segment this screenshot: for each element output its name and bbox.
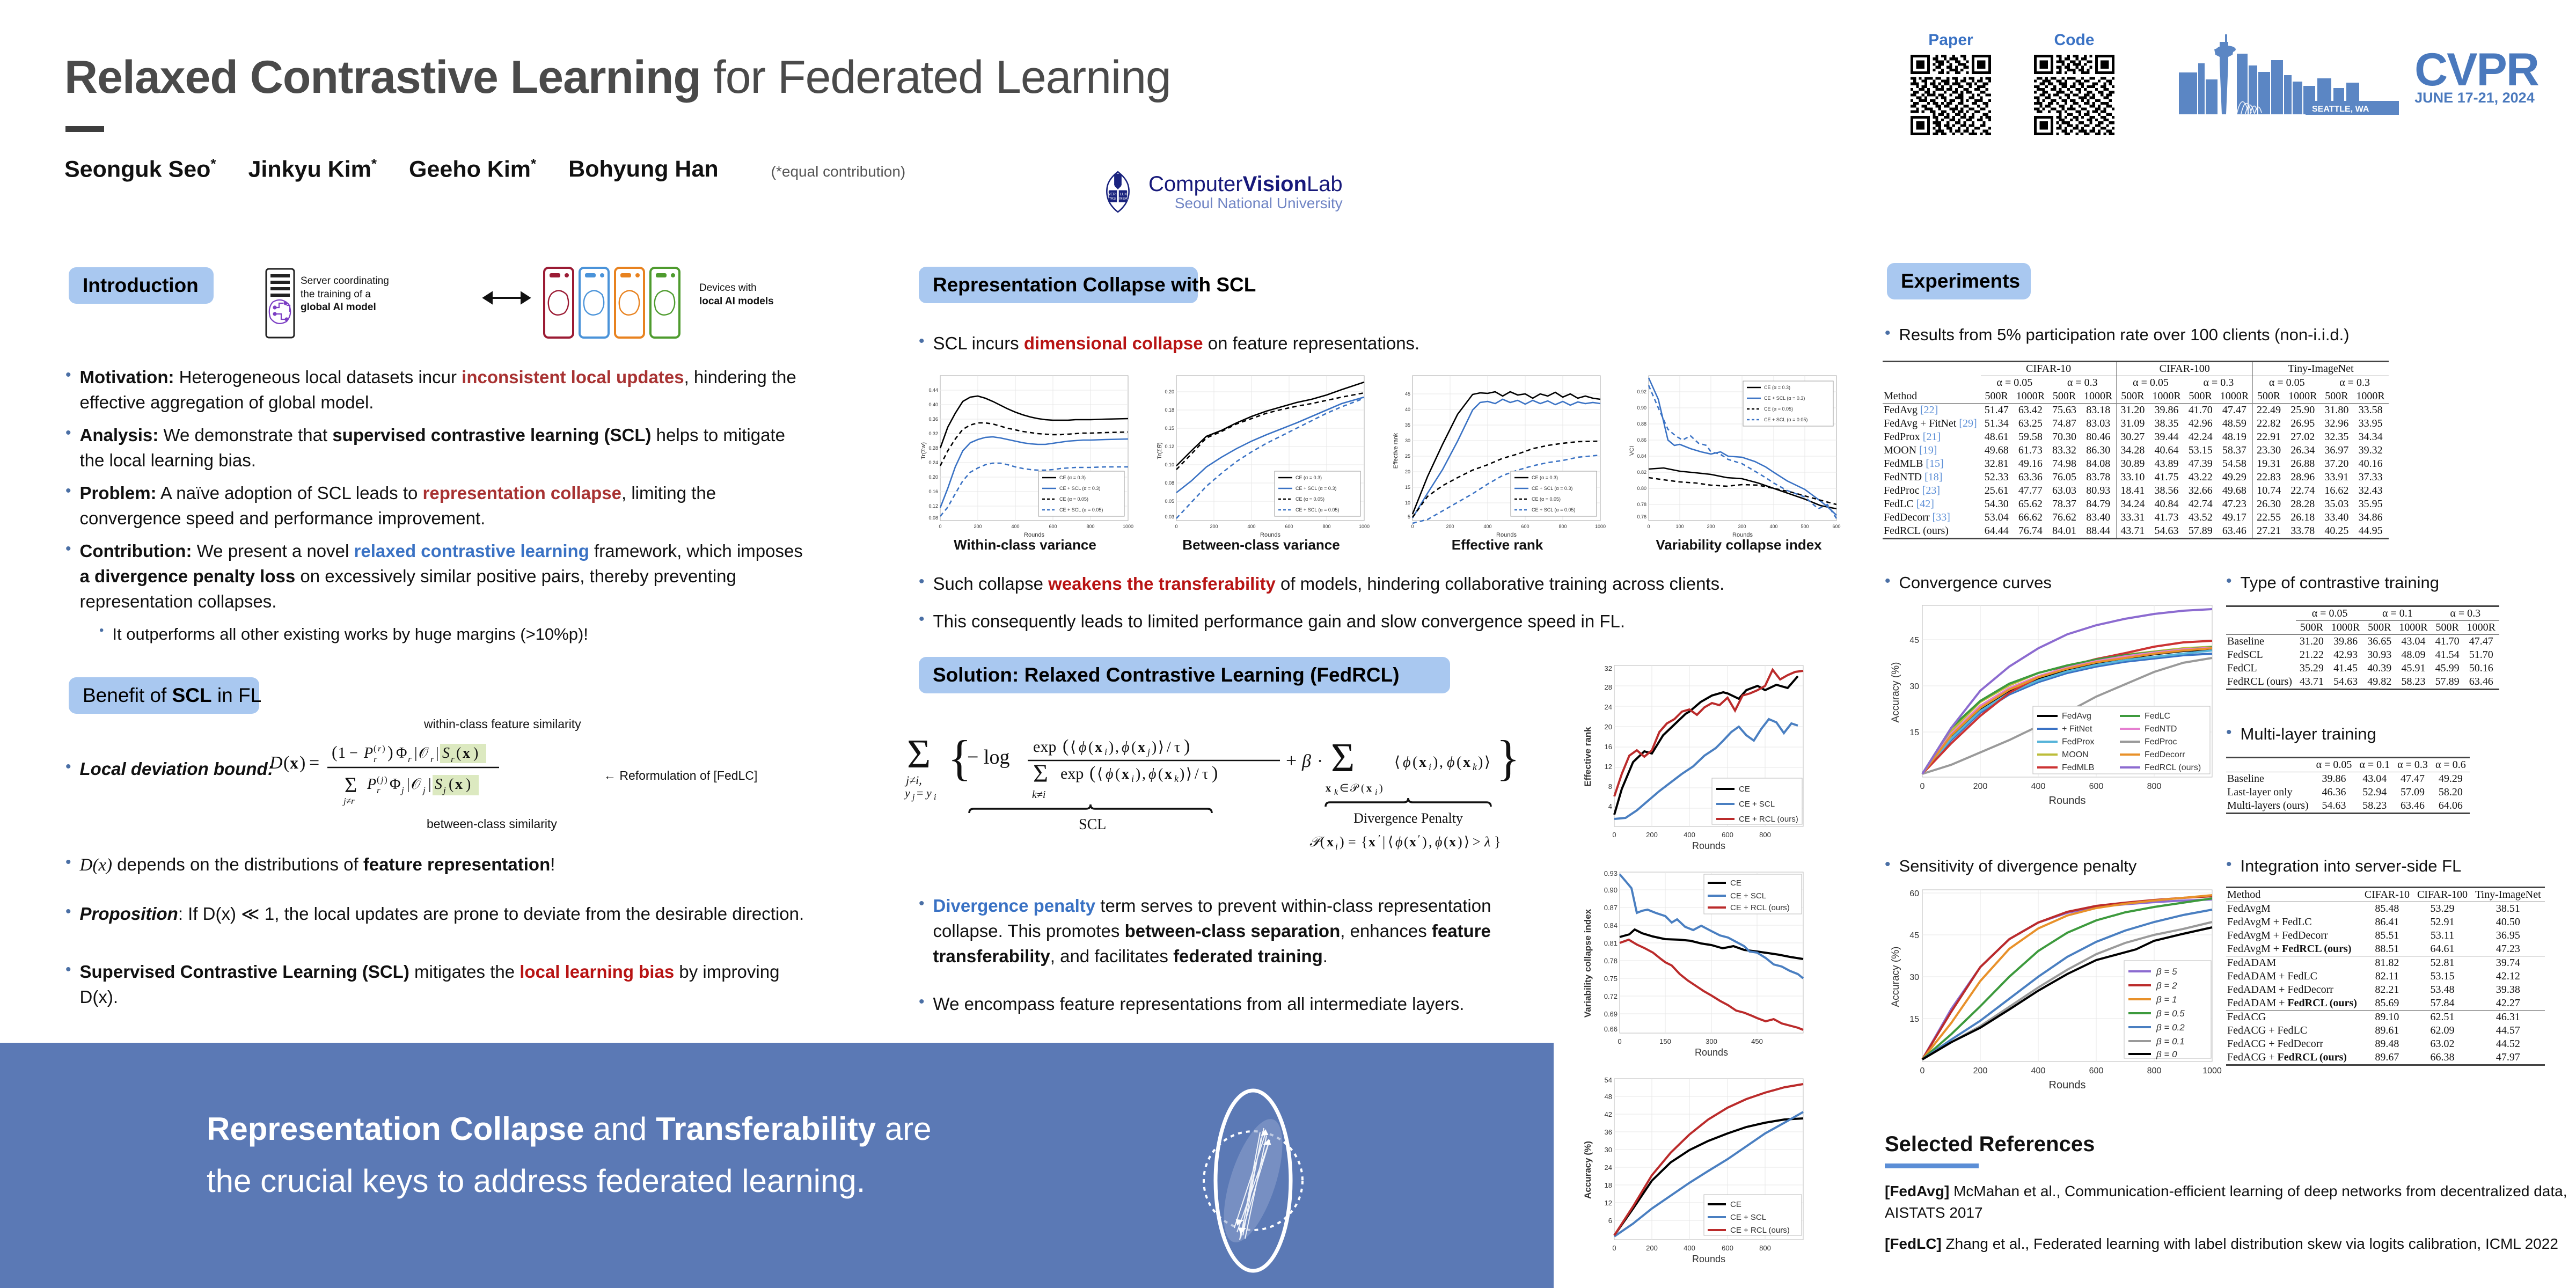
qr-code[interactable]: Code bbox=[2034, 31, 2114, 135]
sensitivity-label-bullet: • Sensitivity of divergence penalty bbox=[1885, 854, 2136, 878]
bullet-dot: • bbox=[919, 894, 925, 914]
svg-text:MOON: MOON bbox=[2062, 750, 2089, 759]
svg-text:S: S bbox=[435, 776, 442, 793]
svg-text:Rounds: Rounds bbox=[2049, 1079, 2086, 1091]
table-cell: 42.74 bbox=[2185, 497, 2216, 511]
svg-text:25: 25 bbox=[1405, 453, 1410, 459]
th-round: 1000R bbox=[2216, 390, 2253, 404]
table-cell: 62.51 bbox=[2413, 1011, 2471, 1024]
table-cell: 81.82 bbox=[2361, 956, 2413, 970]
svg-text:0.72: 0.72 bbox=[1604, 992, 1618, 1000]
svg-text:0.40: 0.40 bbox=[928, 402, 938, 407]
qr-code-label: Code bbox=[2054, 31, 2095, 49]
section-header-solution: Solution: Relaxed Contrastive Learning (… bbox=[919, 657, 1450, 693]
svg-text:k: k bbox=[1334, 788, 1338, 797]
svg-text:|: | bbox=[428, 776, 431, 793]
table-cell: 43.71 bbox=[2117, 524, 2149, 539]
svg-text:CE (α = 0.05): CE (α = 0.05) bbox=[1059, 496, 1088, 502]
experiments-bullet: • Results from 5% participation rate ove… bbox=[1885, 323, 2572, 347]
serverside-table: Method CIFAR-10 CIFAR-100 Tiny-ImageNet … bbox=[2226, 887, 2545, 1066]
th-round: 1000R bbox=[2148, 390, 2184, 404]
table-cell: 49.68 bbox=[1981, 444, 2012, 457]
bullet-dot: • bbox=[919, 331, 925, 352]
svg-text:400: 400 bbox=[1483, 524, 1491, 529]
svg-text:400: 400 bbox=[2031, 1066, 2046, 1075]
svg-text:0.80: 0.80 bbox=[1637, 486, 1646, 491]
th-alpha: α = 0.05 bbox=[2296, 606, 2363, 621]
svg-text:200: 200 bbox=[1646, 1244, 1658, 1252]
table-cell: 25.61 bbox=[1981, 484, 2012, 497]
svg-text:8: 8 bbox=[1608, 782, 1612, 791]
table-cell: 32.43 bbox=[2352, 484, 2388, 497]
th-dataset: CIFAR-100 bbox=[2413, 888, 2471, 902]
intro-bullet-2: • Problem: A naïve adoption of SCL leads… bbox=[65, 481, 806, 531]
cvpr-city-text: SEATTLE, WA bbox=[2312, 105, 2369, 114]
svg-text:0: 0 bbox=[1647, 524, 1650, 529]
svg-text:42: 42 bbox=[1605, 1110, 1612, 1118]
table-cell: 40.25 bbox=[2321, 524, 2352, 539]
svg-text:r: r bbox=[378, 744, 382, 753]
table-row: FedAvg + FitNet [29]51.3463.2574.8783.03… bbox=[1883, 417, 2389, 430]
bullet-dot: • bbox=[65, 481, 71, 501]
svg-text:′: ′ bbox=[1418, 833, 1420, 845]
table-cell: 58.23 bbox=[2395, 675, 2431, 690]
svg-text:Φ: Φ bbox=[396, 745, 407, 762]
table-cell: 43.89 bbox=[2148, 457, 2184, 471]
table-cell: 43.52 bbox=[2185, 511, 2216, 524]
svg-text:ϕ: ϕ bbox=[1447, 754, 1455, 771]
svg-text:r: r bbox=[377, 785, 380, 795]
svg-text:600: 600 bbox=[1722, 1244, 1733, 1252]
svg-text:35: 35 bbox=[1405, 422, 1410, 428]
bullet-dot: • bbox=[65, 539, 71, 559]
table-cell: 52.91 bbox=[2413, 916, 2471, 929]
table-cell-method: FedADAM + FedLC bbox=[2226, 970, 2361, 983]
table-cell: 63.46 bbox=[2394, 799, 2432, 814]
svg-text:CE + SCL (α = 0.05): CE + SCL (α = 0.05) bbox=[1532, 507, 1575, 513]
svg-text:/: / bbox=[1167, 739, 1171, 756]
server-caption: Server coordinating the training of a gl… bbox=[301, 275, 456, 314]
table-cell: 82.11 bbox=[2361, 970, 2413, 983]
svg-text:𝒫: 𝒫 bbox=[1350, 782, 1359, 794]
svg-text:+ FitNet: + FitNet bbox=[2062, 724, 2092, 734]
th-round: 500R bbox=[2432, 621, 2463, 635]
svg-text:Accuracy (%): Accuracy (%) bbox=[1890, 662, 1901, 723]
svg-text:800: 800 bbox=[1558, 524, 1567, 529]
svg-text:0.78: 0.78 bbox=[1637, 502, 1646, 507]
svg-text:|: | bbox=[407, 776, 410, 793]
th-round: 500R bbox=[1981, 390, 2012, 404]
reference-tag: [FedLC] bbox=[1885, 1235, 1942, 1252]
table-cell: 63.46 bbox=[2216, 524, 2253, 539]
svg-text:ϕ: ϕ bbox=[1435, 834, 1442, 850]
table-cell: 48.61 bbox=[1981, 430, 2012, 444]
table-cell: 65.62 bbox=[2012, 497, 2048, 511]
author-star: * bbox=[210, 156, 216, 172]
table-cell: 63.25 bbox=[2012, 417, 2048, 430]
banner-emph-1: Transferability bbox=[656, 1111, 876, 1147]
table-cell: 23.30 bbox=[2253, 444, 2285, 457]
table-cell: 80.46 bbox=[2080, 430, 2117, 444]
table-row: FedAvgM + FedDecorr85.5153.1136.95 bbox=[2226, 929, 2545, 942]
table-row: FedCL35.2941.4540.3945.9145.9950.16 bbox=[2226, 662, 2499, 675]
table-cell-method: FedAvgM + FedRCL (ours) bbox=[2226, 942, 2361, 956]
bullet-dot: • bbox=[2226, 571, 2232, 591]
table-cell: 83.40 bbox=[2080, 511, 2117, 524]
table-cell: 41.54 bbox=[2432, 648, 2463, 662]
svg-text:⟩: ⟩ bbox=[1158, 739, 1164, 756]
table-cell: 63.36 bbox=[2012, 471, 2048, 484]
table-row: FedADAM + FedRCL (ours)85.6957.8442.27 bbox=[2226, 997, 2545, 1011]
svg-text:600: 600 bbox=[2089, 782, 2104, 791]
section-header-collapse: Representation Collapse with SCL bbox=[919, 267, 1198, 303]
table-cell: 82.21 bbox=[2361, 983, 2413, 997]
table-cell: 26.34 bbox=[2285, 444, 2321, 457]
svg-text:i: i bbox=[1104, 747, 1107, 757]
devices-caption: Devices with local AI models bbox=[699, 282, 823, 308]
svg-text:): ) bbox=[1458, 834, 1462, 850]
svg-text:(: ( bbox=[374, 743, 377, 753]
table-cell-method: FedAvgM + FedDecorr bbox=[2226, 929, 2361, 942]
table-cell: 42.12 bbox=[2471, 970, 2545, 983]
svg-text:(: ( bbox=[1361, 782, 1365, 794]
convergence-chart: Accuracy (%) 453015 0200400600800 Rounds bbox=[1889, 601, 2222, 816]
bullet-dot: • bbox=[65, 960, 71, 980]
svg-text:(: ( bbox=[1158, 766, 1163, 782]
qr-code-icon[interactable] bbox=[2034, 55, 2114, 135]
table-cell-method: FedAvg + FitNet [29] bbox=[1883, 417, 1981, 430]
svg-text:MEA: MEA bbox=[1119, 197, 1128, 201]
cvlab-name: ComputerVisionLab bbox=[1148, 173, 1343, 195]
svg-text:FedMLB: FedMLB bbox=[2062, 763, 2094, 772]
table-cell: 53.15 bbox=[2185, 444, 2216, 457]
th-dataset-1: CIFAR-100 bbox=[2117, 362, 2253, 376]
table-cell-method: FedACG bbox=[2226, 1011, 2361, 1024]
table-cell: 30.89 bbox=[2117, 457, 2149, 471]
references-rule bbox=[1885, 1163, 1979, 1168]
qr-paper[interactable]: Paper bbox=[1911, 31, 1991, 135]
svg-text:CE (α = 0.3): CE (α = 0.3) bbox=[1059, 475, 1086, 480]
table-cell-method: FedAvgM bbox=[2226, 902, 2361, 916]
table-row: Multi-layers (ours)54.6358.2363.4664.06 bbox=[2226, 799, 2470, 814]
svg-text:Rounds: Rounds bbox=[2049, 795, 2086, 807]
svg-text:0.66: 0.66 bbox=[1604, 1025, 1618, 1033]
author-star: * bbox=[531, 156, 536, 172]
table-cell-method: FedAvgM + FedLC bbox=[2226, 916, 2361, 929]
table-cell: FedCL bbox=[2226, 662, 2296, 675]
svg-text:VCI: VCI bbox=[1629, 446, 1635, 456]
svg-text:(: ( bbox=[1413, 754, 1417, 771]
collapse-bullet-2: • This consequently leads to limited per… bbox=[919, 609, 1820, 634]
svg-text:CE (α = 0.05): CE (α = 0.05) bbox=[1764, 406, 1793, 412]
svg-text:FedAvg: FedAvg bbox=[2062, 712, 2091, 721]
svg-text:i: i bbox=[1375, 788, 1377, 797]
table-cell: 33.10 bbox=[2117, 471, 2149, 484]
svg-text:0: 0 bbox=[1175, 524, 1177, 529]
svg-text:CE + SCL (α = 0.05): CE + SCL (α = 0.05) bbox=[1296, 507, 1339, 513]
th-alpha: α = 0.3 bbox=[2321, 376, 2388, 390]
bullet-dot: • bbox=[65, 423, 71, 443]
poster-root: Relaxed Contrastive Learning for Federat… bbox=[0, 0, 2576, 1288]
table-row: FedProx [21]48.6159.5870.3080.4630.2739.… bbox=[1883, 430, 2389, 444]
th-alpha: α = 0.05 bbox=[2253, 376, 2321, 390]
svg-text:800: 800 bbox=[1759, 831, 1771, 839]
svg-text:): ) bbox=[387, 742, 393, 762]
svg-text:x: x bbox=[1366, 782, 1372, 794]
table-cell: 58.23 bbox=[2355, 799, 2394, 814]
table-cell: 39.44 bbox=[2148, 430, 2184, 444]
svg-text:CE + RCL (ours): CE + RCL (ours) bbox=[1730, 903, 1790, 912]
svg-text:CE (α = 0.05): CE (α = 0.05) bbox=[1532, 496, 1561, 502]
svg-text:1000: 1000 bbox=[1123, 524, 1133, 529]
table-cell: Multi-layers (ours) bbox=[2226, 799, 2312, 814]
svg-text:30: 30 bbox=[1909, 973, 1919, 982]
multilayer-label-bullet: • Multi-layer training bbox=[2226, 722, 2376, 746]
qr-paper-icon[interactable] bbox=[1911, 55, 1991, 135]
table-cell: 47.47 bbox=[2216, 404, 2253, 418]
th-alpha: α = 0.05 bbox=[2312, 758, 2356, 772]
svg-text:450: 450 bbox=[1751, 1037, 1763, 1045]
table-row: FedLC [42]54.3065.6278.3784.7934.2440.84… bbox=[1883, 497, 2389, 511]
table-cell: 75.63 bbox=[2048, 404, 2080, 418]
contrastive-table: α = 0.05 α = 0.1 α = 0.3 500R1000R 500R1… bbox=[2226, 605, 2499, 690]
svg-text:Rounds: Rounds bbox=[1692, 1254, 1725, 1264]
table-row: FedNTD [18]52.3363.3676.0583.7833.1041.7… bbox=[1883, 471, 2389, 484]
table-cell: 57.89 bbox=[2432, 675, 2463, 690]
th-dataset: CIFAR-10 bbox=[2361, 888, 2413, 902]
table-cell-method: FedACG + FedDecorr bbox=[2226, 1037, 2361, 1051]
table-cell: 40.39 bbox=[2363, 662, 2395, 675]
svg-text:j: j bbox=[442, 785, 446, 795]
svg-text:·: · bbox=[1317, 751, 1323, 771]
table-cell: 54.63 bbox=[2312, 799, 2356, 814]
th-round: 500R bbox=[2363, 621, 2395, 635]
table-cell: 41.45 bbox=[2328, 662, 2363, 675]
table-cell: 38.56 bbox=[2148, 484, 2184, 497]
svg-text:=: = bbox=[309, 753, 319, 773]
table-cell: 89.10 bbox=[2361, 1011, 2413, 1024]
svg-text:45: 45 bbox=[1909, 931, 1919, 940]
svg-text:Σ: Σ bbox=[345, 773, 357, 797]
table-cell: 26.18 bbox=[2285, 511, 2321, 524]
svg-text:j≠i,: j≠i, bbox=[904, 773, 922, 787]
table-cell-method: FedACG + FedLC bbox=[2226, 1024, 2361, 1037]
svg-text:VERI: VERI bbox=[1108, 193, 1117, 196]
svg-text:∈: ∈ bbox=[1340, 782, 1349, 794]
table-cell-method: FedProc [23] bbox=[1883, 484, 1981, 497]
author-3: Bohyung Han bbox=[568, 156, 718, 182]
svg-text:): ) bbox=[1340, 834, 1344, 850]
svg-text:}: } bbox=[1494, 834, 1501, 850]
table-cell: 51.70 bbox=[2463, 648, 2499, 662]
th-alpha: α = 0.6 bbox=[2432, 758, 2470, 772]
formula-note: ← Reformulation of [FedLC] bbox=[604, 769, 757, 783]
svg-text:800: 800 bbox=[2147, 782, 2162, 791]
svg-text:r: r bbox=[408, 754, 412, 764]
th-alpha: α = 0.3 bbox=[2432, 606, 2499, 621]
cvpr-name: CVPR bbox=[2414, 50, 2538, 90]
table-cell: 39.86 bbox=[2328, 635, 2363, 649]
contrastive-type-table: α = 0.05 α = 0.1 α = 0.3 500R1000R 500R1… bbox=[2226, 605, 2499, 690]
cvpr-dates: JUNE 17-21, 2024 bbox=[2414, 90, 2538, 106]
deviation-formula-svg: D (x) = ( 1 −P r(r) ) Φr |𝒪r| Sr (x) Σ j… bbox=[268, 735, 601, 826]
section-header-benefit: Benefit of SCL in FL bbox=[69, 677, 259, 714]
svg-text:LUX: LUX bbox=[1120, 193, 1128, 196]
svg-text:|: | bbox=[414, 745, 418, 762]
table-cell: 37.33 bbox=[2352, 471, 2388, 484]
svg-text:β = 2: β = 2 bbox=[2156, 980, 2177, 991]
svg-text:): ) bbox=[1136, 766, 1140, 782]
svg-text:): ) bbox=[1379, 782, 1383, 794]
table-cell: 40.84 bbox=[2148, 497, 2184, 511]
svg-text:Divergence Penalty: Divergence Penalty bbox=[1353, 810, 1463, 826]
table-cell: 74.87 bbox=[2048, 417, 2080, 430]
svg-text:⟨: ⟨ bbox=[1388, 834, 1393, 850]
svg-text:0.86: 0.86 bbox=[1637, 437, 1646, 443]
svg-text:CE + SCL (α = 0.05): CE + SCL (α = 0.05) bbox=[1764, 417, 1807, 422]
table-cell: 63.46 bbox=[2463, 675, 2499, 690]
table-cell: FedSCL bbox=[2226, 648, 2296, 662]
svg-text:0.90: 0.90 bbox=[1604, 886, 1618, 894]
svg-text:12: 12 bbox=[1605, 763, 1612, 771]
svg-text:24: 24 bbox=[1605, 1163, 1612, 1172]
svg-text:0.84: 0.84 bbox=[1604, 921, 1618, 930]
table-cell: 48.19 bbox=[2216, 430, 2253, 444]
table-cell: Baseline bbox=[2226, 772, 2312, 786]
svg-text:200: 200 bbox=[1210, 524, 1218, 529]
svg-text:15: 15 bbox=[1909, 1015, 1919, 1024]
solution-bullet-0: • Divergence penalty term serves to prev… bbox=[919, 894, 1547, 969]
table-cell: 54.30 bbox=[1981, 497, 2012, 511]
table-cell: 53.11 bbox=[2413, 929, 2471, 942]
reference-tag: [FedAvg] bbox=[1885, 1183, 1949, 1199]
bullet-dot: • bbox=[65, 365, 71, 385]
author-0: Seonguk Seo* bbox=[64, 156, 216, 182]
svg-text:0: 0 bbox=[1411, 524, 1414, 529]
svg-text:j: j bbox=[400, 785, 404, 795]
svg-text:30: 30 bbox=[1909, 682, 1919, 691]
svg-text:TAS: TAS bbox=[1109, 197, 1116, 201]
table-row: FedRCL (ours)64.4476.7484.0188.4443.7154… bbox=[1883, 524, 2389, 539]
svg-text:400: 400 bbox=[2031, 782, 2046, 791]
svg-text:0.08: 0.08 bbox=[1165, 480, 1174, 486]
table-cell: 35.95 bbox=[2352, 497, 2388, 511]
svg-text:r: r bbox=[451, 754, 455, 764]
table-cell: 46.36 bbox=[2312, 786, 2356, 799]
svg-text:0.15: 0.15 bbox=[1165, 426, 1174, 431]
table-cell: 31.80 bbox=[2321, 404, 2352, 418]
bullet-dot: • bbox=[919, 992, 925, 1012]
table-cell: 42.96 bbox=[2185, 417, 2216, 430]
table-cell: 43.04 bbox=[2395, 635, 2431, 649]
cvpr-logo: SEATTLE, WA CVPR JUNE 17-21, 2024 bbox=[2173, 32, 2538, 121]
table-cell: 80.93 bbox=[2080, 484, 2117, 497]
svg-text:β = 0: β = 0 bbox=[2156, 1049, 2177, 1059]
table-cell: 39.38 bbox=[2471, 983, 2545, 997]
svg-text:0.32: 0.32 bbox=[928, 431, 938, 436]
table-cell-method: FedProx [21] bbox=[1883, 430, 1981, 444]
svg-text:x: x bbox=[1368, 834, 1375, 850]
th-round: 1000R bbox=[2352, 390, 2388, 404]
table-cell: 47.23 bbox=[2471, 942, 2545, 956]
table-cell: 64.61 bbox=[2413, 942, 2471, 956]
svg-text:+: + bbox=[1286, 750, 1297, 771]
svg-text:800: 800 bbox=[1086, 524, 1094, 529]
svg-text:− log: − log bbox=[967, 746, 1010, 769]
svg-text:CE + SCL: CE + SCL bbox=[1730, 1213, 1766, 1222]
table-cell: 57.84 bbox=[2413, 997, 2471, 1011]
th-round: 1000R bbox=[2328, 621, 2363, 635]
bullet-dot: • bbox=[919, 609, 925, 630]
cvlab-logo: VERI TAS LUX MEA ComputerVisionLab Seoul… bbox=[1095, 169, 1343, 215]
table-row: FedADAM81.8252.8139.74 bbox=[2226, 956, 2545, 970]
table-cell: 41.75 bbox=[2148, 471, 2184, 484]
table-cell: 51.34 bbox=[1981, 417, 2012, 430]
table-cell: 78.37 bbox=[2048, 497, 2080, 511]
svg-text:20: 20 bbox=[1405, 469, 1410, 474]
svg-text:400: 400 bbox=[1247, 524, 1255, 529]
svg-text:0: 0 bbox=[1920, 782, 1925, 791]
svg-text:18: 18 bbox=[1605, 1181, 1612, 1189]
table-row: FedACG + FedRCL (ours)89.6766.3847.97 bbox=[2226, 1051, 2545, 1065]
local-deviation-formula: D (x) = ( 1 −P r(r) ) Φr |𝒪r| Sr (x) Σ j… bbox=[268, 735, 601, 829]
th-alpha: α = 0.3 bbox=[2048, 376, 2117, 390]
table-cell: 44.52 bbox=[2471, 1037, 2545, 1051]
serverside-label-bullet: • Integration into server-side FL bbox=[2226, 854, 2461, 878]
convergence-label-bullet: • Convergence curves bbox=[1885, 571, 2052, 595]
svg-text:20: 20 bbox=[1605, 723, 1612, 731]
table-cell: 45.99 bbox=[2432, 662, 2463, 675]
svg-text:,: , bbox=[1429, 834, 1432, 850]
svg-text:{: { bbox=[1361, 834, 1367, 850]
table-row: Last-layer only46.3652.9457.0958.20 bbox=[2226, 786, 2470, 799]
svg-text:,: , bbox=[1115, 739, 1119, 756]
title-bold: Relaxed Contrastive Learning bbox=[64, 52, 701, 103]
table-cell: 34.34 bbox=[2352, 430, 2388, 444]
svg-text:6: 6 bbox=[1608, 1217, 1612, 1225]
table-row: FedADAM + FedLC82.1153.1542.12 bbox=[2226, 970, 2545, 983]
svg-text:𝒪: 𝒪 bbox=[419, 745, 429, 762]
th-alpha: α = 0.3 bbox=[2394, 758, 2432, 772]
svg-text:SCL: SCL bbox=[1079, 816, 1106, 833]
svg-text:i: i bbox=[934, 793, 936, 802]
svg-text:(: ( bbox=[377, 774, 380, 785]
rcl-comparison-charts: Effective rank 32282420161284 0200400600… bbox=[1583, 660, 1814, 1272]
svg-text:r: r bbox=[430, 754, 434, 764]
svg-text:(: ( bbox=[1088, 739, 1093, 756]
table-cell: 49.17 bbox=[2216, 511, 2253, 524]
banner-emph-0: Representation Collapse bbox=[207, 1111, 584, 1147]
svg-text:48: 48 bbox=[1605, 1093, 1612, 1101]
table-cell: FedRCL (ours) bbox=[2226, 675, 2296, 690]
bullet-dot: • bbox=[65, 852, 71, 873]
table-cell: 16.62 bbox=[2321, 484, 2352, 497]
table-cell: 33.78 bbox=[2285, 524, 2321, 539]
svg-text:200: 200 bbox=[974, 524, 982, 529]
table-cell: 48.59 bbox=[2216, 417, 2253, 430]
collapse-heading: Representation Collapse with SCL bbox=[933, 274, 1256, 296]
svg-text:CE + SCL: CE + SCL bbox=[1730, 891, 1766, 901]
table-row: MOON [19]49.6861.7383.3286.3034.2840.645… bbox=[1883, 444, 2389, 457]
svg-text:800: 800 bbox=[2147, 1066, 2162, 1075]
benefit-bullet-0: • D(x) depends on the distributions of f… bbox=[65, 852, 817, 878]
svg-text:Σ: Σ bbox=[907, 731, 931, 777]
table-cell: 47.39 bbox=[2185, 457, 2216, 471]
svg-text:): ) bbox=[1212, 763, 1218, 783]
table-cell: 26.88 bbox=[2285, 457, 2321, 471]
svg-text:1 −: 1 − bbox=[338, 745, 358, 762]
svg-text:j: j bbox=[1146, 747, 1150, 757]
